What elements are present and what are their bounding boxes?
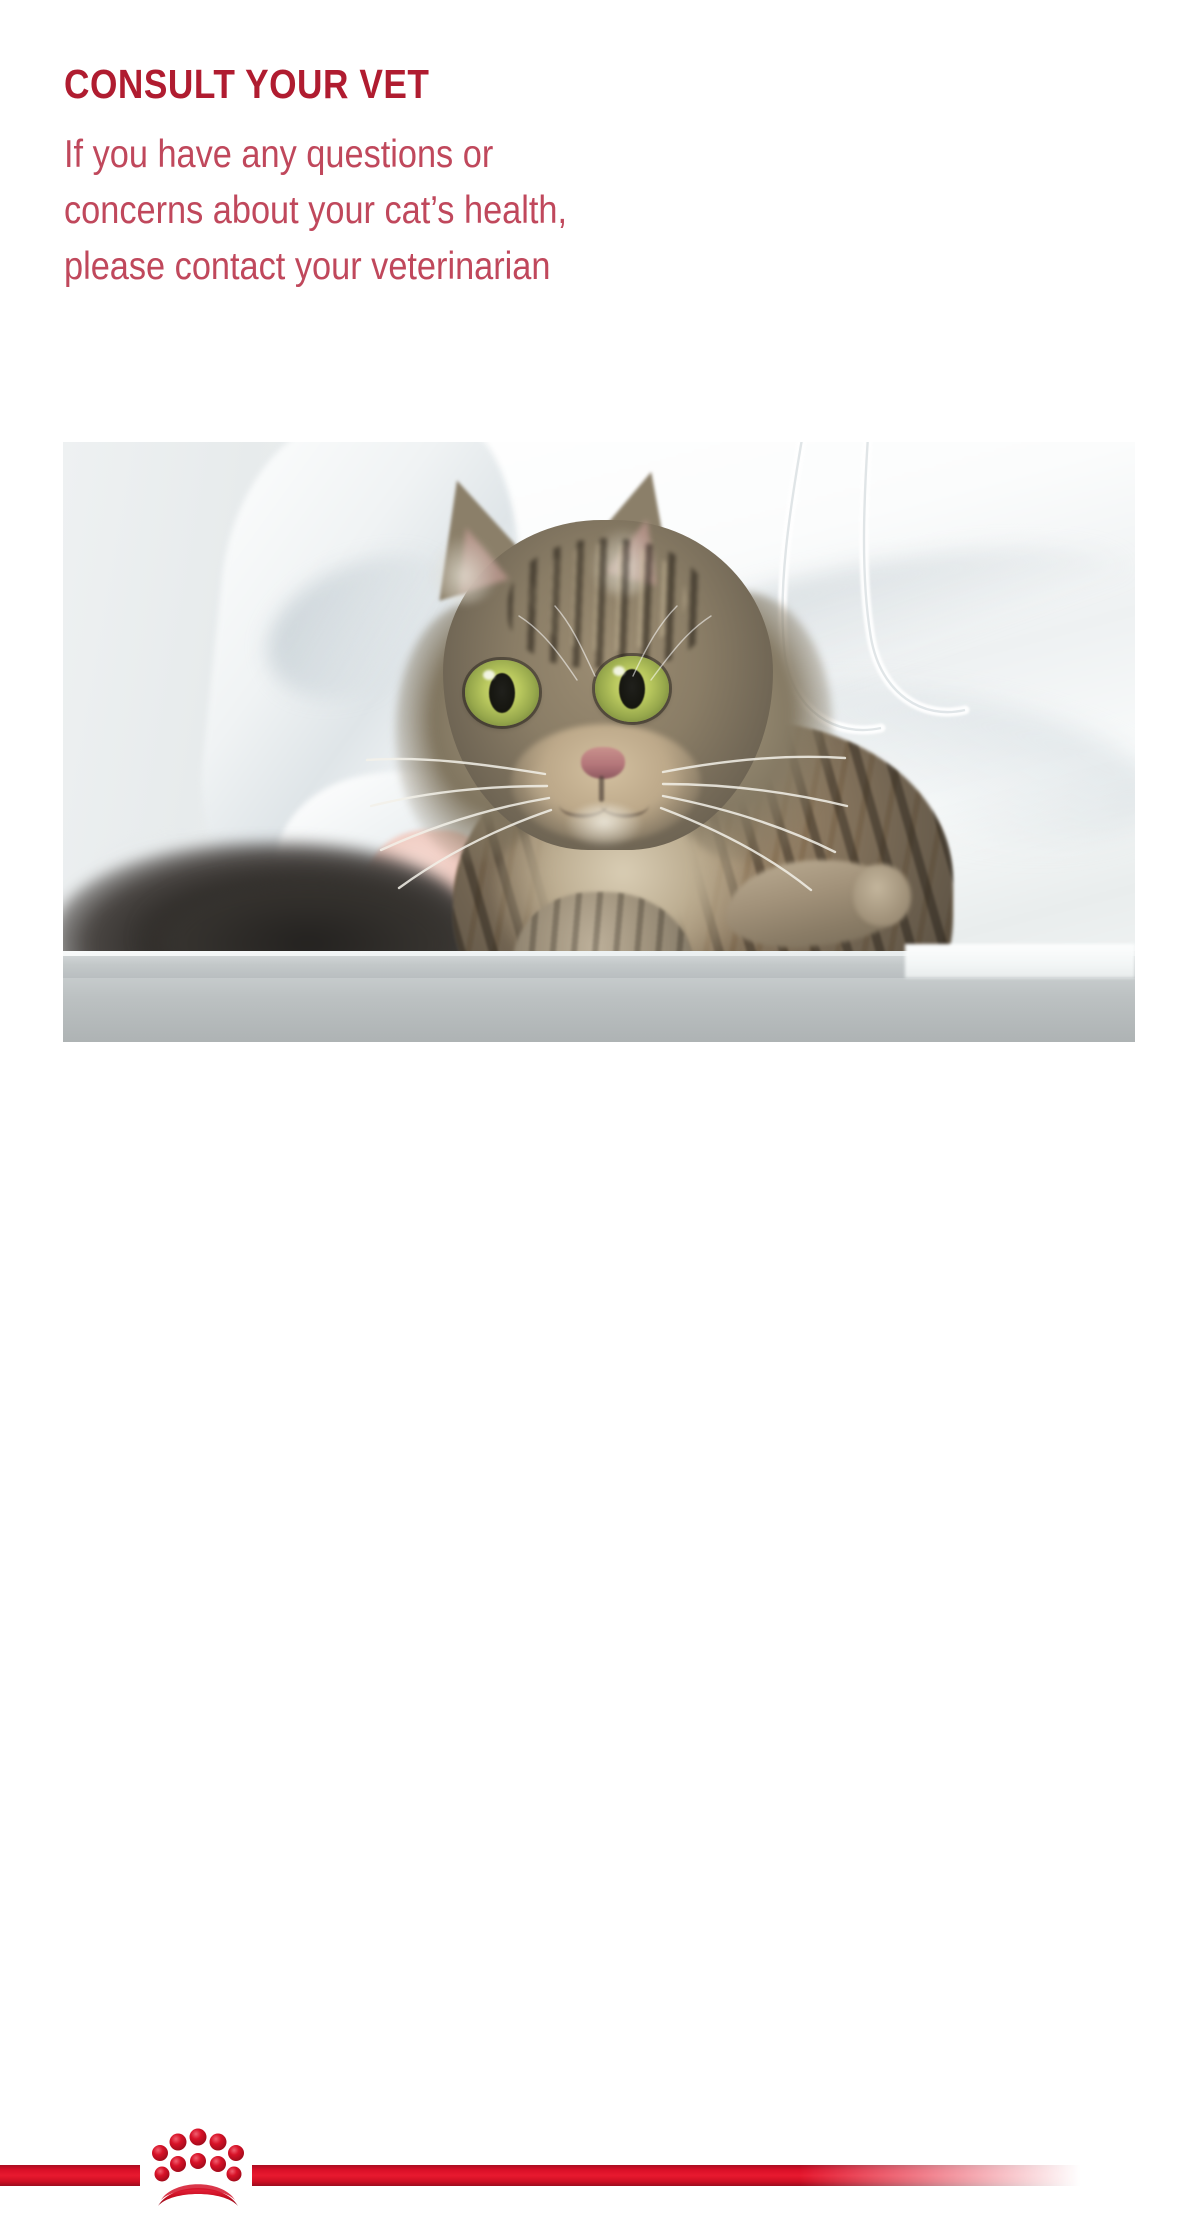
cat-nose <box>581 747 625 779</box>
body-copy: If you have any questions or concerns ab… <box>64 127 856 295</box>
exam-table-white-edge <box>905 944 1135 978</box>
body-copy-line-2: concerns about your cat’s health, <box>64 183 856 239</box>
cat-forehead-tabby-stripes <box>508 538 708 668</box>
brand-footer <box>0 1060 1200 1200</box>
cat-left-pupil <box>489 673 515 713</box>
cat-chin <box>565 804 643 848</box>
page-title: CONSULT YOUR VET <box>64 64 838 105</box>
royal-canin-crown-icon <box>144 2120 252 2220</box>
cat-right-pupil <box>619 669 645 709</box>
exam-table-front-face <box>63 978 1135 1042</box>
cat-right-eye-glint <box>613 666 625 676</box>
body-copy-line-3: please contact your veterinarian <box>64 239 856 295</box>
cat-left-eye-glint <box>483 670 495 680</box>
cat-left-ear-tuft <box>429 534 499 604</box>
cat-front-paw-toes <box>853 864 911 926</box>
vet-cat-photo <box>63 442 1135 1042</box>
message-block: CONSULT YOUR VET If you have any questio… <box>64 64 964 295</box>
body-copy-line-1: If you have any questions or <box>64 127 856 183</box>
